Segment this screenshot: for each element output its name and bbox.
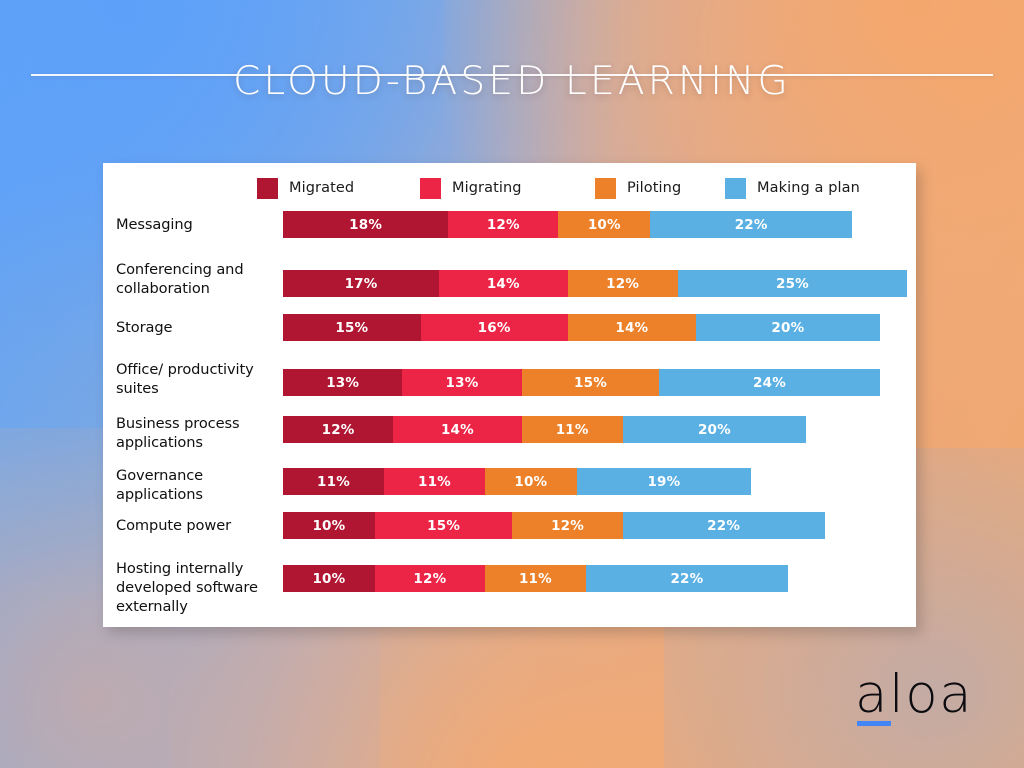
bar-segment-value: 11%	[519, 571, 552, 587]
stacked-bar: 17%14%12%25%	[283, 270, 907, 297]
legend-item-migrated[interactable]: Migrated	[257, 175, 354, 201]
chart-card: MigratedMigratingPilotingMaking a plan M…	[103, 163, 916, 627]
bar-segment[interactable]: 13%	[283, 369, 402, 396]
bar-segment-value: 12%	[606, 276, 639, 292]
legend-swatch-icon	[725, 178, 746, 199]
bar-segment-value: 20%	[698, 422, 731, 438]
bar-segment[interactable]: 15%	[375, 512, 513, 539]
row-label: Business process applications	[116, 414, 284, 452]
bar-segment[interactable]: 14%	[393, 416, 522, 443]
row-label: Office/ productivity suites	[116, 360, 284, 398]
chart-row: Storage15%16%14%20%	[103, 312, 916, 356]
row-label: Messaging	[116, 215, 284, 234]
bar-segment-value: 24%	[753, 375, 786, 391]
bar-segment-value: 10%	[514, 474, 547, 490]
row-label: Storage	[116, 318, 284, 337]
bar-segment[interactable]: 22%	[623, 512, 825, 539]
legend-item-making-a-plan[interactable]: Making a plan	[725, 175, 860, 201]
bar-segment[interactable]: 15%	[283, 314, 421, 341]
bar-segment[interactable]: 18%	[283, 211, 448, 238]
page-title: CLOUD-BASED LEARNING	[0, 62, 1024, 101]
title-block: CLOUD-BASED LEARNING	[0, 62, 1024, 101]
stacked-bar: 15%16%14%20%	[283, 314, 880, 341]
bar-segment[interactable]: 14%	[439, 270, 568, 297]
bar-segment-value: 14%	[441, 422, 474, 438]
bar-segment[interactable]: 10%	[283, 565, 375, 592]
bar-segment-value: 15%	[335, 320, 368, 336]
bar-segment-value: 20%	[771, 320, 804, 336]
bar-segment[interactable]: 10%	[283, 512, 375, 539]
slide-canvas: CLOUD-BASED LEARNING MigratedMigratingPi…	[0, 0, 1024, 768]
bar-segment-value: 14%	[487, 276, 520, 292]
bar-segment-value: 10%	[312, 571, 345, 587]
bar-segment-value: 10%	[312, 518, 345, 534]
bar-segment[interactable]: 12%	[375, 565, 485, 592]
bar-segment[interactable]: 10%	[485, 468, 577, 495]
chart-row: Messaging18%12%10%22%	[103, 209, 916, 253]
bar-segment[interactable]: 24%	[659, 369, 879, 396]
legend-swatch-icon	[420, 178, 441, 199]
stacked-bar: 10%15%12%22%	[283, 512, 825, 539]
bar-segment[interactable]: 10%	[558, 211, 650, 238]
chart-legend: MigratedMigratingPilotingMaking a plan	[103, 175, 916, 209]
bar-segment[interactable]: 16%	[421, 314, 568, 341]
bar-segment-value: 22%	[735, 217, 768, 233]
legend-item-piloting[interactable]: Piloting	[595, 175, 681, 201]
title-divider	[31, 74, 993, 76]
row-label: Governance applications	[116, 466, 284, 504]
chart-row: Hosting internally developed software ex…	[103, 558, 916, 618]
bar-segment-value: 18%	[349, 217, 382, 233]
stacked-bar: 13%13%15%24%	[283, 369, 880, 396]
chart-row: Business process applications12%14%11%20…	[103, 411, 916, 459]
bar-segment[interactable]: 11%	[522, 416, 623, 443]
bar-segment-value: 12%	[322, 422, 355, 438]
legend-label: Migrating	[452, 180, 522, 196]
bar-segment-value: 15%	[574, 375, 607, 391]
bar-segment-value: 12%	[551, 518, 584, 534]
bar-segment[interactable]: 11%	[283, 468, 384, 495]
bar-segment[interactable]: 15%	[522, 369, 660, 396]
bar-segment[interactable]: 20%	[696, 314, 880, 341]
legend-item-migrating[interactable]: Migrating	[420, 175, 522, 201]
chart-row: Governance applications11%11%10%19%	[103, 462, 916, 508]
logo-underline-accent	[857, 721, 891, 726]
chart-row: Conferencing and collaboration17%14%12%2…	[103, 257, 916, 309]
legend-label: Migrated	[289, 180, 354, 196]
bar-segment-value: 22%	[707, 518, 740, 534]
bar-segment-value: 13%	[446, 375, 479, 391]
bar-segment[interactable]: 19%	[577, 468, 751, 495]
stacked-bar: 18%12%10%22%	[283, 211, 852, 238]
bar-segment-value: 11%	[317, 474, 350, 490]
bar-segment[interactable]: 12%	[448, 211, 558, 238]
bar-segment-value: 22%	[670, 571, 703, 587]
legend-swatch-icon	[257, 178, 278, 199]
bar-segment[interactable]: 20%	[623, 416, 807, 443]
bar-segment[interactable]: 22%	[586, 565, 788, 592]
bar-segment-value: 16%	[478, 320, 511, 336]
bar-segment-value: 12%	[487, 217, 520, 233]
bar-segment[interactable]: 25%	[678, 270, 908, 297]
bar-segment-value: 13%	[326, 375, 359, 391]
legend-swatch-icon	[595, 178, 616, 199]
bar-segment-value: 12%	[413, 571, 446, 587]
row-label: Hosting internally developed software ex…	[116, 559, 284, 616]
bar-segment[interactable]: 12%	[512, 512, 622, 539]
bar-segment-value: 11%	[556, 422, 589, 438]
bar-segment-value: 11%	[418, 474, 451, 490]
bar-segment-value: 10%	[588, 217, 621, 233]
bar-segment-value: 14%	[615, 320, 648, 336]
stacked-bar: 10%12%11%22%	[283, 565, 788, 592]
row-label: Conferencing and collaboration	[116, 260, 284, 298]
row-label: Compute power	[116, 516, 284, 535]
bar-segment-value: 25%	[776, 276, 809, 292]
bar-segment[interactable]: 13%	[402, 369, 521, 396]
stacked-bar: 12%14%11%20%	[283, 416, 806, 443]
legend-label: Piloting	[627, 180, 681, 196]
bar-segment[interactable]: 11%	[384, 468, 485, 495]
bar-segment[interactable]: 11%	[485, 565, 586, 592]
bar-segment-value: 19%	[647, 474, 680, 490]
bar-segment[interactable]: 22%	[650, 211, 852, 238]
bar-segment-value: 15%	[427, 518, 460, 534]
chart-row: Compute power10%15%12%22%	[103, 510, 916, 556]
bar-segment[interactable]: 12%	[283, 416, 393, 443]
bar-segment[interactable]: 17%	[283, 270, 439, 297]
bar-segment[interactable]: 14%	[568, 314, 697, 341]
logo-wordmark: aloa	[855, 668, 995, 721]
bar-segment-value: 17%	[345, 276, 378, 292]
chart-row: Office/ productivity suites13%13%15%24%	[103, 358, 916, 408]
aloa-logo[interactable]: aloa	[855, 668, 995, 730]
bar-segment[interactable]: 12%	[568, 270, 678, 297]
stacked-bar: 11%11%10%19%	[283, 468, 751, 495]
legend-label: Making a plan	[757, 180, 860, 196]
